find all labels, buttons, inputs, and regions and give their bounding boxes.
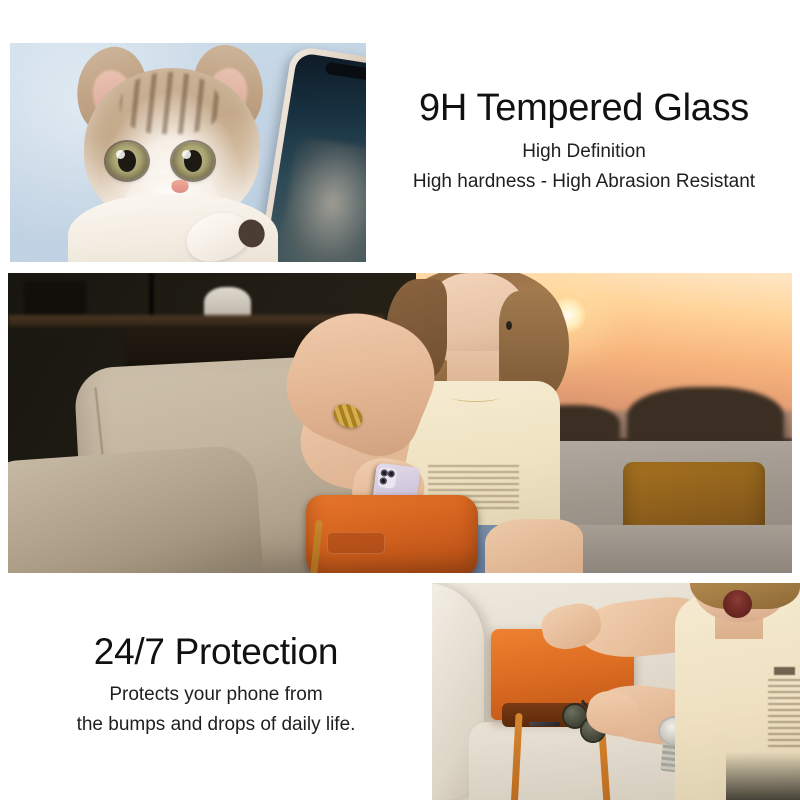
handbag-front-pocket [327, 532, 386, 554]
panel-shadow [726, 752, 800, 800]
subline-high-hardness: High hardness - High Abrasion Resistant [374, 171, 794, 193]
orange-handbag [306, 495, 478, 573]
tank-top-print-title [774, 667, 795, 675]
kitten [62, 56, 298, 262]
camera-lens-1 [379, 469, 387, 477]
feature-copy-tempered-glass: 9H Tempered Glass High Definition High h… [374, 88, 794, 193]
subline-high-definition: High Definition [374, 141, 794, 163]
woman-leg [485, 519, 584, 573]
photo-shocked-woman-bag [432, 583, 800, 800]
kitten-forehead-stripes [120, 72, 220, 134]
woman-necklace [452, 393, 499, 402]
camera-lens-2 [387, 469, 395, 477]
kitten-eye-right [172, 142, 214, 180]
phone-notch [325, 62, 366, 81]
subline-protects-your-phone: Protects your phone from [16, 684, 416, 706]
phone-inside-handbag [529, 722, 560, 726]
shocked-woman-open-mouth [723, 590, 752, 618]
woman-earring [506, 321, 512, 330]
kitten-nose [172, 180, 189, 193]
phone-camera-module [377, 467, 397, 489]
headline-protection: 24/7 Protection [16, 632, 416, 671]
subline-bumps-and-drops: the bumps and drops of daily life. [16, 714, 416, 736]
photo-cat-with-phone [10, 43, 366, 262]
handbag-strap [310, 520, 323, 573]
photo-woman-bag-sofa [8, 273, 792, 573]
headline-tempered-glass: 9H Tempered Glass [374, 88, 794, 128]
kitten-eye-glint-left [116, 150, 125, 159]
sofa-armrest [8, 444, 263, 573]
kitten-eye-left [106, 142, 148, 180]
room-decor-box [24, 281, 87, 317]
camera-lens-3 [378, 477, 386, 485]
marketing-image-canvas: 9H Tempered Glass High Definition High h… [0, 0, 800, 800]
feature-copy-protection: 24/7 Protection Protects your phone from… [16, 632, 416, 736]
kitten-eye-glint-right [182, 150, 191, 159]
tank-top-print-body [768, 679, 800, 750]
